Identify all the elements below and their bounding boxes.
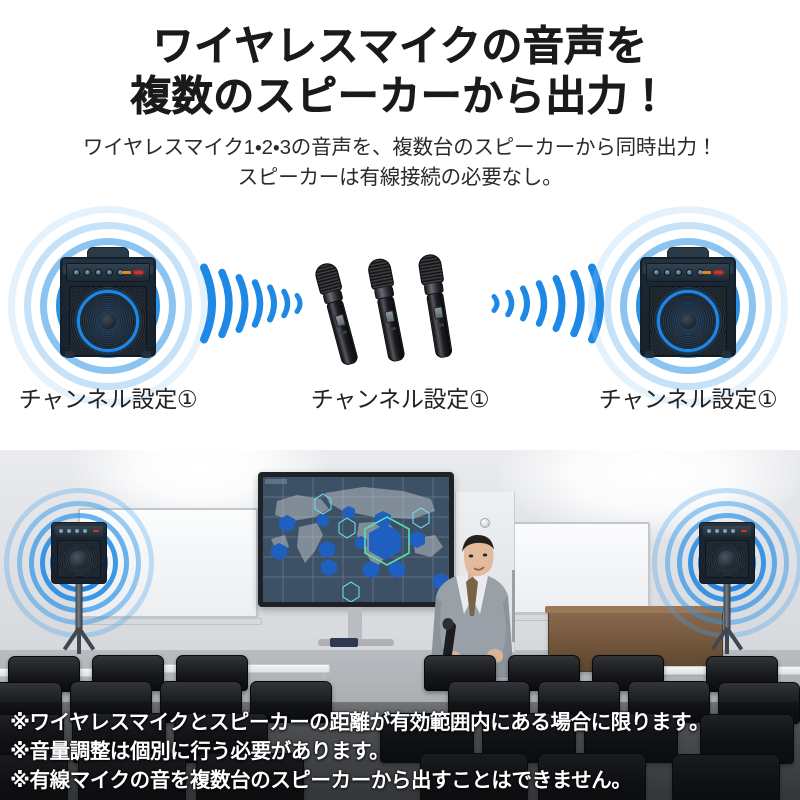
diagram-microphones <box>320 232 480 380</box>
diagram-right-speaker <box>632 232 744 380</box>
led-indicator-icon <box>93 530 99 532</box>
speaker-cone <box>100 313 116 329</box>
pa-speaker-icon <box>60 253 156 359</box>
wireless-microphone-icon <box>313 261 362 367</box>
headline-line-1: ワイヤレスマイクの音声を <box>153 23 648 69</box>
tripod-legs <box>704 628 750 654</box>
subtitle: ワイヤレスマイク1・2・3の音声を、複数台のスピーカーから同時出力！ スピーカー… <box>0 133 800 193</box>
speaker-body <box>640 257 736 357</box>
knob-icon <box>723 529 727 533</box>
speaker-cone <box>70 551 88 569</box>
speaker-body <box>60 257 156 357</box>
subtitle-line-2: スピーカーは有線接続の必要なし。 <box>0 163 800 193</box>
speaker-foot <box>645 351 654 358</box>
note-line-1: ※ワイヤレスマイクとスピーカーの距離が有効範囲内にある場合に限ります。 <box>10 708 792 737</box>
speaker-grille <box>705 540 749 578</box>
knob-icon <box>653 269 660 276</box>
microphone-lcd <box>334 314 346 328</box>
led-indicator-icon <box>714 271 723 274</box>
speaker-foot <box>142 351 151 358</box>
speaker-grille <box>649 286 727 356</box>
speaker-control-panel <box>703 526 751 537</box>
wireless-microphone-icon <box>417 253 456 359</box>
speaker-cone <box>718 551 736 569</box>
caption-right-speaker: チャンネル設定① <box>538 380 800 414</box>
microphone-body <box>377 296 406 363</box>
product-feature-graphic: ワイヤレスマイクの音声を 複数のスピーカーから出力！ ワイヤレスマイク1・2・3… <box>0 0 800 800</box>
knob-icon <box>73 269 80 276</box>
tripod-legs <box>56 628 102 654</box>
subtitle-line-1: ワイヤレスマイク1・2・3の音声を、複数台のスピーカーから同時出力！ <box>0 133 800 163</box>
knob-icon <box>84 269 91 276</box>
wireless-microphone-icon <box>366 257 408 363</box>
wireless-microphone-group <box>320 246 480 366</box>
speaker-on-tripod-left <box>14 478 144 648</box>
connection-diagram: チャンネル設定① チャンネル設定① チャンネル設定① <box>0 212 800 450</box>
led-indicator-icon <box>702 271 711 274</box>
knob-icon <box>75 529 79 533</box>
note-line-2: ※音量調整は個別に行う必要があります。 <box>10 737 792 766</box>
microphone-lcd <box>433 306 444 319</box>
device-on-tray <box>330 638 358 647</box>
pa-speaker-icon <box>699 522 755 584</box>
microphone-head <box>417 253 444 286</box>
led-indicator-icon <box>741 530 747 532</box>
top-text-block: ワイヤレスマイクの音声を 複数のスピーカーから出力！ ワイヤレスマイク1・2・3… <box>0 0 800 215</box>
speaker-grille <box>69 286 147 356</box>
knob-icon <box>95 269 102 276</box>
knob-icon <box>67 529 71 533</box>
microphone-lcd <box>384 310 395 323</box>
sound-wave-left-icon <box>198 262 310 351</box>
pa-speaker-icon <box>51 522 107 584</box>
tripod-pole <box>724 584 731 630</box>
microphone-button <box>437 323 444 327</box>
notes-overlay: ※ワイヤレスマイクとスピーカーの距離が有効範囲内にある場合に限ります。 ※音量調… <box>0 702 800 800</box>
speaker-control-panel <box>55 526 103 537</box>
speaker-foot <box>65 351 74 358</box>
knob-icon <box>707 529 711 533</box>
note-line-3: ※有線マイクの音を複数台のスピーカーから出すことはできません。 <box>10 766 792 795</box>
microphone-body <box>326 299 359 366</box>
knob-icon <box>106 269 113 276</box>
tripod-pole <box>76 584 83 630</box>
pa-speaker-icon <box>640 253 736 359</box>
speaker-grille <box>57 540 101 578</box>
knob-icon <box>675 269 682 276</box>
caption-microphones: チャンネル設定① <box>250 380 550 414</box>
speaker-cone <box>680 313 696 329</box>
led-indicator-icon <box>134 271 143 274</box>
speaker-foot <box>722 351 731 358</box>
classroom-photo: ※ワイヤレスマイクとスピーカーの距離が有効範囲内にある場合に限ります。 ※音量調… <box>0 450 800 800</box>
knob-icon <box>59 529 63 533</box>
headline-line-2: 複数のスピーカーから出力！ <box>0 71 800 121</box>
knob-icon <box>83 529 87 533</box>
display-stand-neck <box>348 607 362 641</box>
microphone-body <box>426 292 453 359</box>
knob-icon <box>664 269 671 276</box>
knob-icon <box>686 269 693 276</box>
caption-left-speaker: チャンネル設定① <box>0 380 258 414</box>
speaker-on-tripod-right <box>662 478 792 648</box>
speaker-control-panel <box>66 263 150 282</box>
knob-icon <box>715 529 719 533</box>
led-indicator-icon <box>122 271 131 274</box>
speaker-control-panel <box>646 263 730 282</box>
knob-icon <box>731 529 735 533</box>
microphone-button <box>340 330 348 335</box>
diagram-left-speaker <box>52 232 164 380</box>
page-title: ワイヤレスマイクの音声を 複数のスピーカーから出力！ <box>0 0 800 121</box>
microphone-button <box>388 327 395 331</box>
